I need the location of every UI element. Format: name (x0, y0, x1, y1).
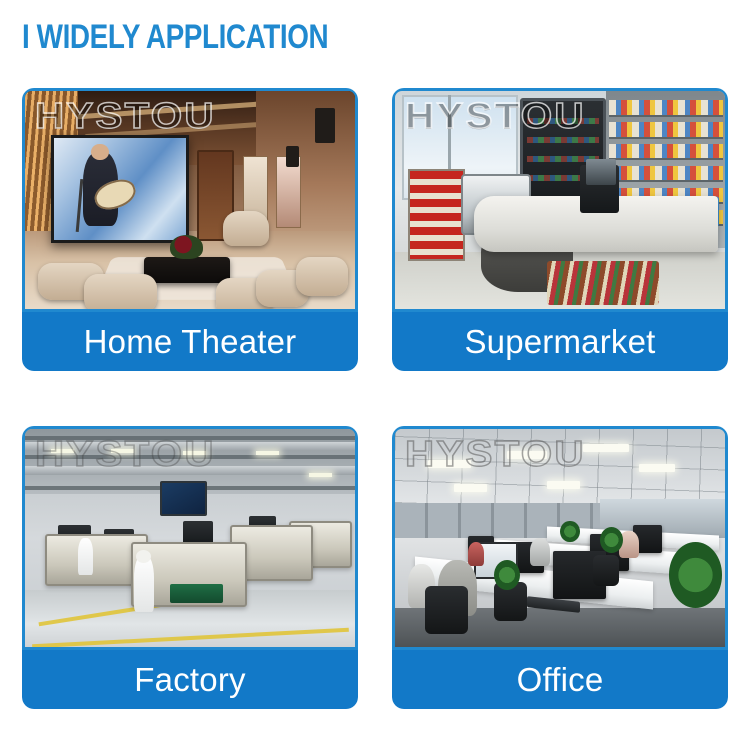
recliner-2 (84, 274, 157, 312)
green-component-tray (170, 584, 223, 604)
office-chair-1 (425, 586, 468, 634)
ceiling-lamp-1 (51, 449, 74, 453)
ceiling-lamp-3 (183, 451, 206, 455)
page-title: I WIDELY APPLICATION (22, 20, 328, 54)
worker-1 (134, 555, 154, 612)
supermarket-caption-text: Supermarket (464, 325, 655, 358)
cooler-shelf-2 (527, 137, 600, 143)
ceiling-light-panel-4 (639, 464, 675, 472)
application-card-supermarket[interactable]: HYSTOU Supermarket (392, 88, 728, 372)
ceiling-lamp-5 (309, 473, 332, 477)
ceiling-light-panel-6 (547, 481, 580, 489)
speaker-1 (315, 108, 335, 143)
desk-plant-3 (600, 527, 623, 553)
application-card-grid: HYSTOU Home Theater (22, 88, 728, 713)
shelf-row-2 (609, 122, 723, 138)
home-theater-caption-bar: Home Theater (22, 311, 358, 371)
supermarket-caption-bar: Supermarket (392, 311, 728, 371)
worker-5 (468, 542, 485, 566)
projection-screen (51, 135, 189, 243)
application-card-office[interactable]: HYSTOU Office (392, 426, 728, 710)
ceiling-duct-2 (25, 466, 355, 475)
office-photo: HYSTOU (392, 426, 728, 650)
microphone-stand (76, 179, 84, 232)
ceiling-lamp-2 (111, 449, 134, 453)
ceiling-lamp-4 (256, 451, 279, 455)
cooler-shelf-1 (527, 118, 600, 124)
page-header: I WIDELY APPLICATION (22, 16, 395, 58)
office-chair-3 (593, 555, 619, 586)
armchair (223, 211, 269, 246)
impulse-candy-rack (547, 261, 659, 305)
desk-plant-4 (560, 521, 580, 543)
wall-art-2 (276, 156, 301, 228)
shelf-row-3 (609, 144, 723, 160)
shelf-row-1 (609, 100, 723, 116)
coffee-table (144, 257, 230, 283)
factory-caption-bar: Factory (22, 649, 358, 709)
worker-2 (78, 538, 93, 575)
ceiling-light-panel-5 (454, 484, 487, 492)
factory-caption-text: Factory (134, 663, 245, 696)
pos-screen (586, 159, 616, 185)
production-display-monitor (160, 481, 207, 516)
speaker-2 (286, 146, 299, 168)
ceiling-beam-2 (25, 455, 355, 459)
widely-application-banner: I WIDELY APPLICATION (0, 0, 750, 729)
factory-photo: HYSTOU (22, 426, 358, 650)
ceiling-light-panel-1 (428, 460, 471, 468)
office-caption-text: Office (517, 663, 604, 696)
application-card-home-theater[interactable]: HYSTOU Home Theater (22, 88, 358, 372)
floor-plant (669, 542, 722, 607)
worker-3 (530, 538, 550, 566)
performer-head (91, 144, 108, 160)
recliner-5 (296, 257, 349, 296)
shelf-row-4 (609, 166, 723, 182)
supermarket-photo: HYSTOU (392, 88, 728, 312)
office-caption-bar: Office (392, 649, 728, 709)
application-card-factory[interactable]: HYSTOU Factory (22, 426, 358, 710)
endcap-display (408, 169, 465, 260)
home-theater-photo: HYSTOU (22, 88, 358, 312)
ceiling-beam-1 (25, 436, 355, 440)
flower-arrangement (170, 235, 203, 259)
ceiling-light-panel-2 (507, 451, 547, 459)
ceiling-duct-1 (25, 442, 355, 451)
home-theater-caption-text: Home Theater (84, 325, 297, 358)
right-wall (256, 91, 355, 248)
worker-1-cap (136, 550, 151, 563)
ceiling-light-panel-3 (583, 444, 629, 452)
